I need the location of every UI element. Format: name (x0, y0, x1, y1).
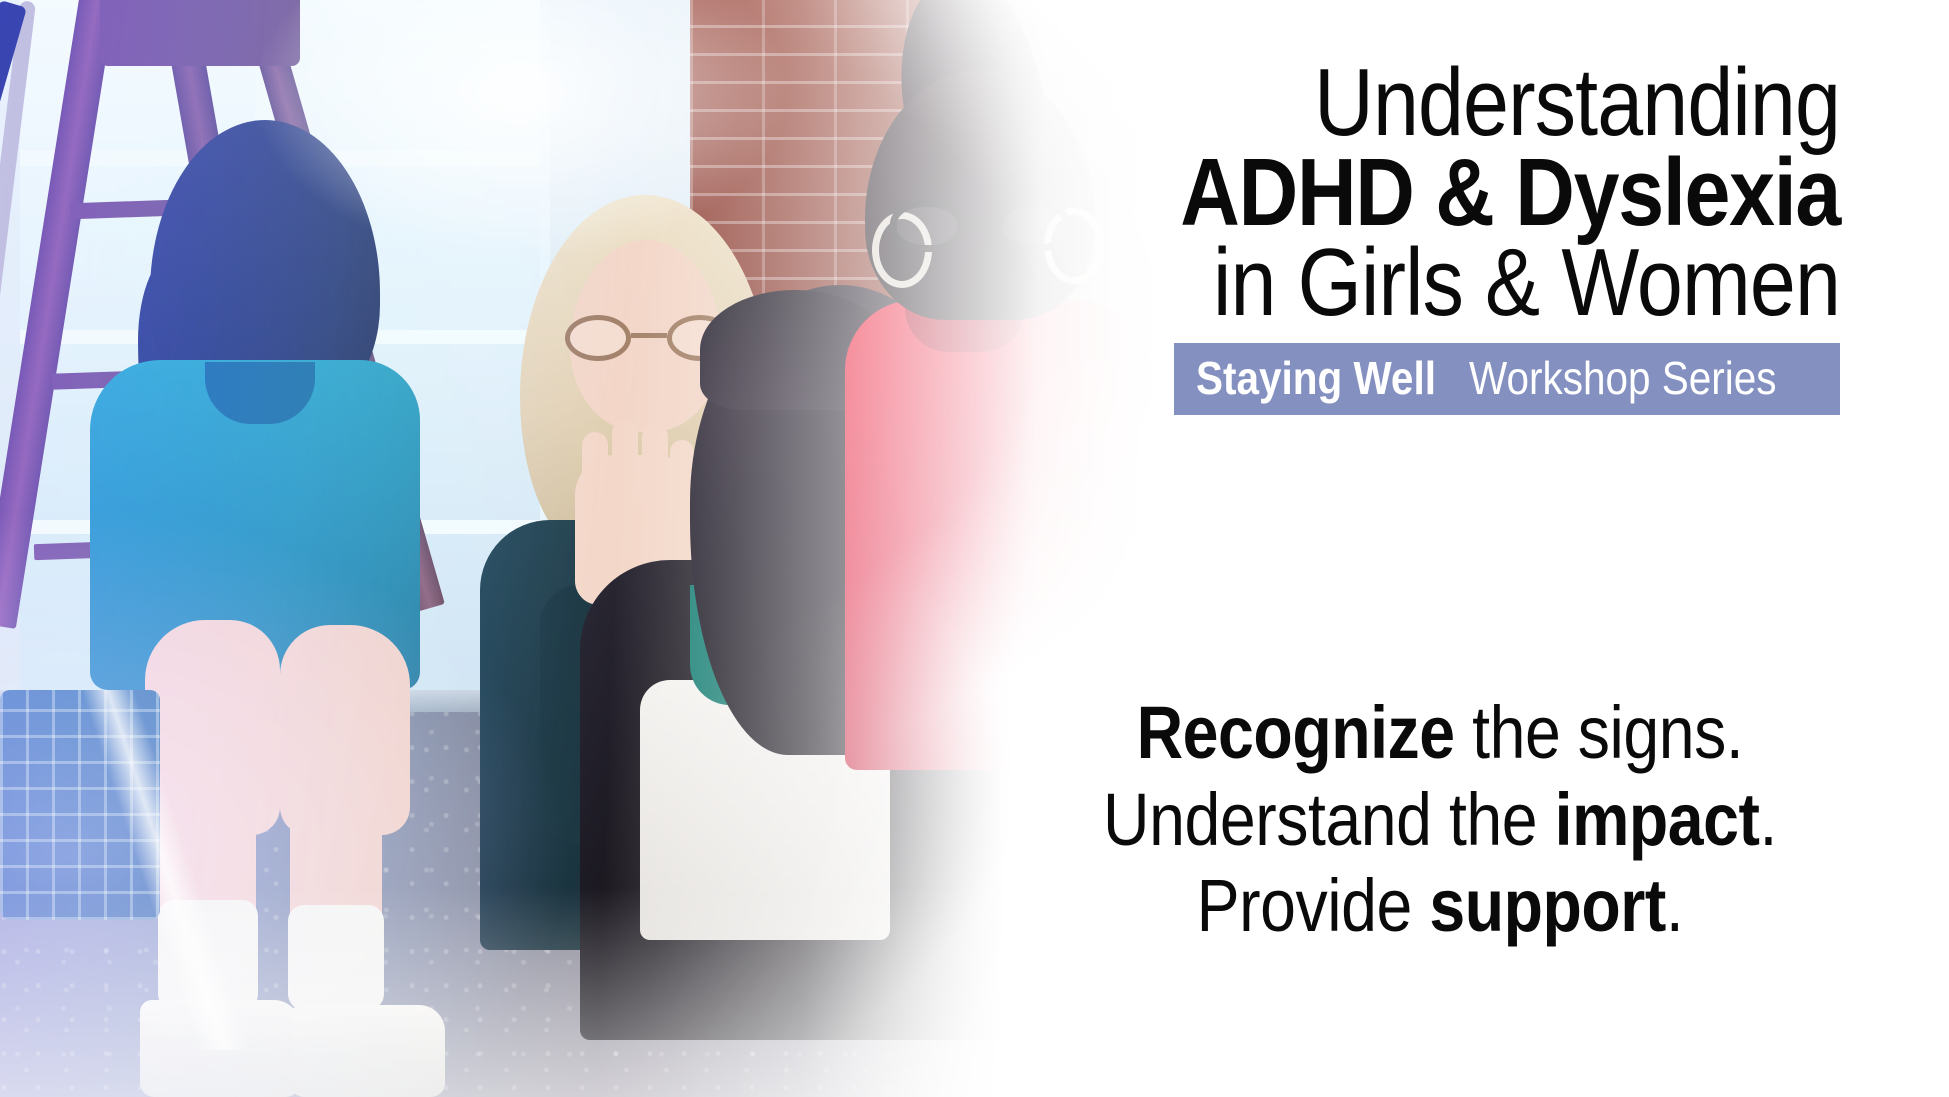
tagline-2-bold: impact (1555, 778, 1760, 861)
title-line-2: ADHD & Dyslexia (1126, 148, 1840, 238)
series-badge-rest: Workshop Series (1469, 355, 1776, 401)
workshop-promo-banner: Understanding ADHD & Dyslexia in Girls &… (0, 0, 1949, 1097)
tagline-3-bold: support (1429, 864, 1666, 947)
tagline-block: Recognize the signs. Understand the impa… (1000, 690, 1880, 950)
title-line-1: Understanding (1126, 58, 1840, 148)
tagline-2-end: . (1760, 778, 1777, 861)
tagline-line-2: Understand the impact. (1057, 777, 1823, 864)
tagline-line-1: Recognize the signs. (1057, 690, 1823, 777)
tagline-1-rest: the signs. (1455, 691, 1744, 774)
title-line-3: in Girls & Women (1126, 238, 1840, 328)
title-block: Understanding ADHD & Dyslexia in Girls &… (1010, 58, 1840, 415)
tagline-3-rest: Provide (1197, 864, 1430, 947)
tagline-3-end: . (1666, 864, 1683, 947)
tagline-line-3: Provide support. (1057, 863, 1823, 950)
series-badge: Staying Well Workshop Series (1174, 343, 1840, 415)
tagline-2-rest: Understand the (1103, 778, 1555, 861)
tagline-1-bold: Recognize (1137, 691, 1455, 774)
series-badge-strong: Staying Well (1196, 355, 1436, 401)
